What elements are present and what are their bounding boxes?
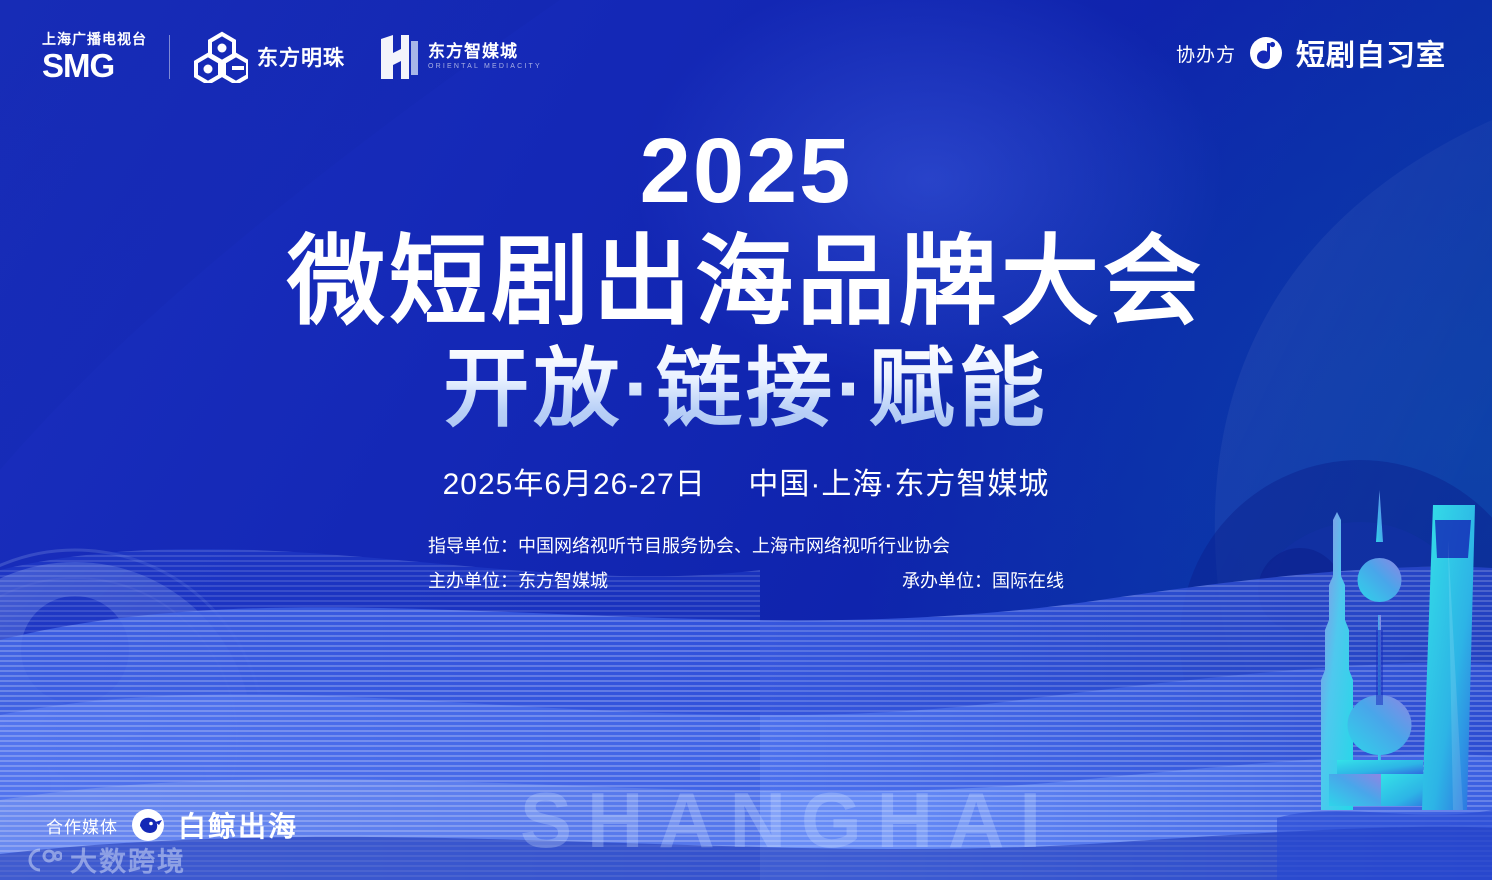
- media-partner-block: 合作媒体 白鲸出海: [46, 805, 298, 845]
- event-location: 中国·上海·东方智媒城: [748, 468, 1049, 501]
- watermark-text: 大数跨境: [70, 840, 186, 879]
- site-watermark: 大数跨境: [24, 840, 186, 879]
- event-year: 2025: [0, 125, 1492, 217]
- dashukuajing-circle-icon: [24, 845, 62, 875]
- organizer-block: 指导单位：中国网络视听节目服务协会、上海市网络视听行业协会 主办单位：东方智媒城…: [428, 529, 1064, 599]
- organizer-group: 承办单位：国际在线: [902, 564, 1064, 599]
- guidance-row: 指导单位：中国网络视听节目服务协会、上海市网络视听行业协会: [428, 529, 1064, 564]
- guidance-label: 指导单位：: [428, 536, 518, 556]
- host-row: 主办单位：东方智媒城 承办单位：国际在线: [428, 564, 1064, 599]
- event-slogan: 开放·链接·赋能: [0, 341, 1492, 437]
- main-content: 2025 微短剧出海品牌大会 开放·链接·赋能 2025年6月26-27日 中国…: [0, 0, 1492, 599]
- organizer-value: 国际在线: [992, 571, 1064, 591]
- guidance-value: 中国网络视听节目服务协会、上海市网络视听行业协会: [518, 536, 950, 556]
- conference-poster: SHANGHAI: [0, 0, 1492, 880]
- media-partner-brand: 白鲸出海: [178, 805, 298, 845]
- event-meta: 2025年6月26-27日 中国·上海·东方智媒城: [0, 459, 1492, 503]
- event-date: 2025年6月26-27日: [443, 468, 706, 501]
- media-partner-label: 合作媒体: [46, 813, 118, 838]
- organizer-label: 承办单位：: [902, 571, 992, 591]
- host-label: 主办单位：: [428, 571, 518, 591]
- event-title: 微短剧出海品牌大会: [0, 229, 1492, 335]
- whale-circle-icon: [131, 808, 165, 842]
- city-wordmark: SHANGHAI: [520, 775, 1056, 866]
- host-group: 主办单位：东方智媒城: [428, 564, 608, 599]
- host-value: 东方智媒城: [518, 571, 608, 591]
